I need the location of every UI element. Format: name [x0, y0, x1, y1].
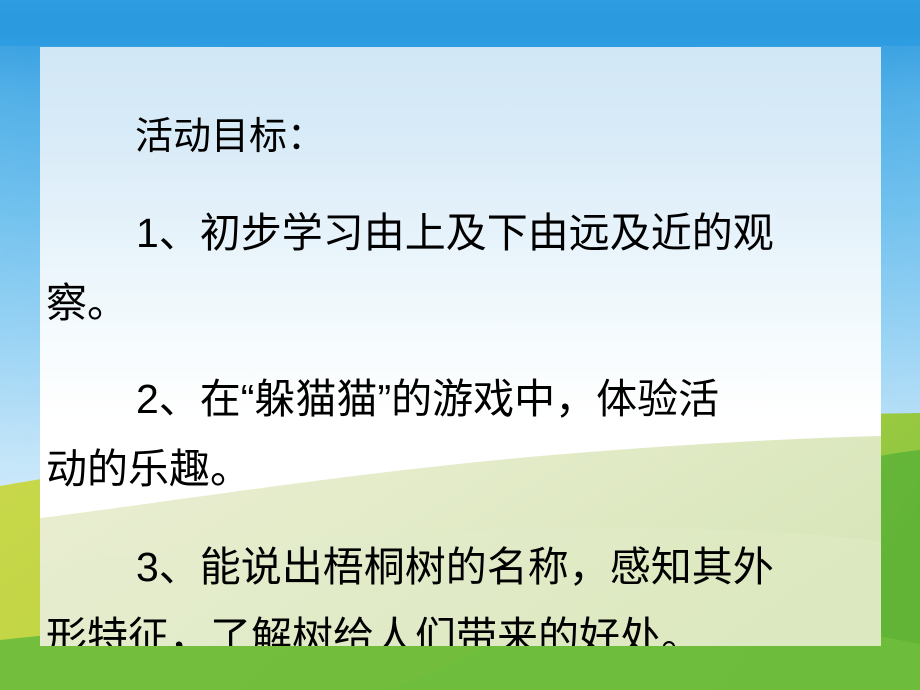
goal-3-line-2: 形特征，了解树给人们带来的好处。: [40, 613, 881, 646]
goal-1-line-2: 察。: [40, 279, 881, 327]
goal-2-line-1: 2、在“躲猫猫”的游戏中，体验活: [40, 375, 881, 423]
activity-goals-title: 活动目标：: [40, 115, 881, 159]
content-card: 活动目标： 1、初步学习由上及下由远及近的观 察。 2、在“躲猫猫”的游戏中，体…: [40, 47, 881, 646]
text-content-layer: 活动目标： 1、初步学习由上及下由远及近的观 察。 2、在“躲猫猫”的游戏中，体…: [40, 47, 881, 646]
goal-1-line-1: 1、初步学习由上及下由远及近的观: [40, 209, 881, 257]
goal-2-line-2: 动的乐趣。: [40, 445, 881, 493]
goal-3-line-1: 3、能说出梧桐树的名称，感知其外: [40, 543, 881, 591]
slide-canvas: 活动目标： 1、初步学习由上及下由远及近的观 察。 2、在“躲猫猫”的游戏中，体…: [0, 0, 920, 690]
top-blue-band: [0, 0, 920, 46]
